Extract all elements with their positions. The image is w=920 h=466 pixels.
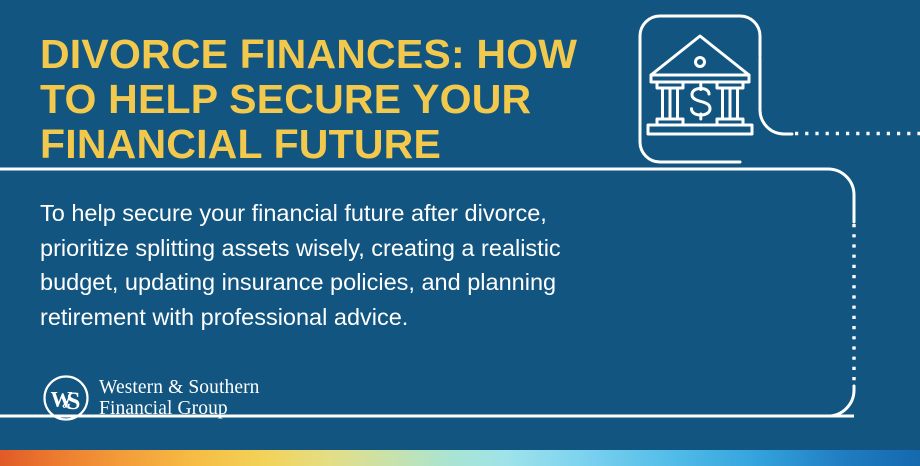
- svg-text:&: &: [62, 399, 71, 411]
- page-title: DIVORCE FINANCES: HOW TO HELP SECURE YOU…: [40, 32, 620, 167]
- bank-entablature: [651, 75, 749, 82]
- ws-monogram-icon: W S &: [42, 374, 90, 422]
- brand-wordmark: Western & Southern Financial Group: [99, 377, 260, 419]
- bank-roof-medallion: [696, 58, 705, 67]
- brand-name-line-1: Western & Southern: [99, 377, 260, 398]
- icon-container-tail: [760, 58, 792, 134]
- bank-building-icon: [648, 36, 752, 134]
- dollar-sign-icon: [692, 85, 711, 120]
- bank-column-capital-left: [657, 82, 683, 88]
- bank-column-base-right: [717, 119, 743, 125]
- bank-plinth: [648, 125, 752, 134]
- icon-container-frame: [640, 16, 760, 162]
- brand-logo[interactable]: W S & Western & Southern Financial Group: [42, 374, 260, 422]
- brand-gradient-bar: [0, 450, 920, 466]
- promo-card: DIVORCE FINANCES: HOW TO HELP SECURE YOU…: [0, 0, 920, 466]
- body-paragraph: To help secure your financial future aft…: [40, 196, 640, 334]
- brand-name-line-2: Financial Group: [99, 398, 260, 419]
- bank-column-capital-right: [717, 82, 743, 88]
- bank-column-base-left: [657, 119, 683, 125]
- bank-roof: [651, 36, 749, 75]
